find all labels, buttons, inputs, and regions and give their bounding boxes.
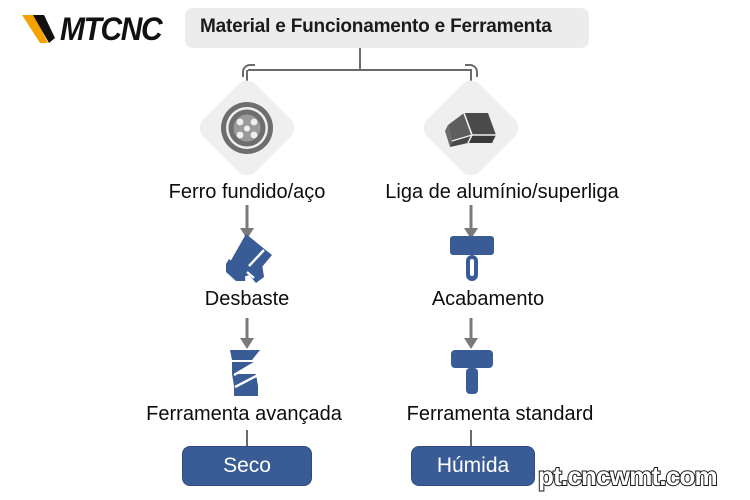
coolant-button-wet-label: Húmida: [437, 454, 509, 478]
roughing-tool-icon: [216, 232, 278, 284]
coolant-button-wet[interactable]: Húmida: [411, 446, 535, 486]
operation-label-left: Desbaste: [186, 288, 308, 311]
vmtcnc-logo: MTCNC: [22, 12, 200, 46]
finishing-endmill-icon: [444, 232, 500, 288]
coolant-button-dry[interactable]: Seco: [182, 446, 312, 486]
material-label-right: Liga de alumínio/superliga: [356, 181, 648, 204]
standard-endmill-icon: [446, 346, 498, 398]
coolant-button-dry-label: Seco: [223, 454, 271, 478]
tool-label-right: Ferramenta standard: [380, 403, 620, 426]
tool-label-left: Ferramenta avançada: [108, 403, 380, 426]
logo-wordmark: MTCNC: [60, 12, 161, 49]
operation-label-right: Acabamento: [406, 288, 570, 311]
flowchart-canvas: MTCNC Material e Funcionamento e Ferrame…: [0, 0, 750, 500]
connector-root-stem: [359, 48, 361, 70]
disc-with-holes-icon: [210, 91, 284, 165]
connector-corner-right: [464, 64, 478, 78]
page-title: Material e Funcionamento e Ferramenta: [200, 16, 580, 38]
metal-ingot-icon: [434, 91, 508, 165]
connector-bus: [248, 69, 472, 71]
site-watermark: pt.cncwmt.com: [538, 461, 717, 492]
connector-corner-left: [242, 64, 256, 78]
material-label-left: Ferro fundido/aço: [138, 181, 356, 204]
connector-right-to-coolant: [470, 430, 472, 446]
helical-flute-tool-icon: [222, 348, 270, 398]
connector-left-to-coolant: [246, 430, 248, 446]
arrow-left-operation-to-tool: [238, 318, 256, 350]
